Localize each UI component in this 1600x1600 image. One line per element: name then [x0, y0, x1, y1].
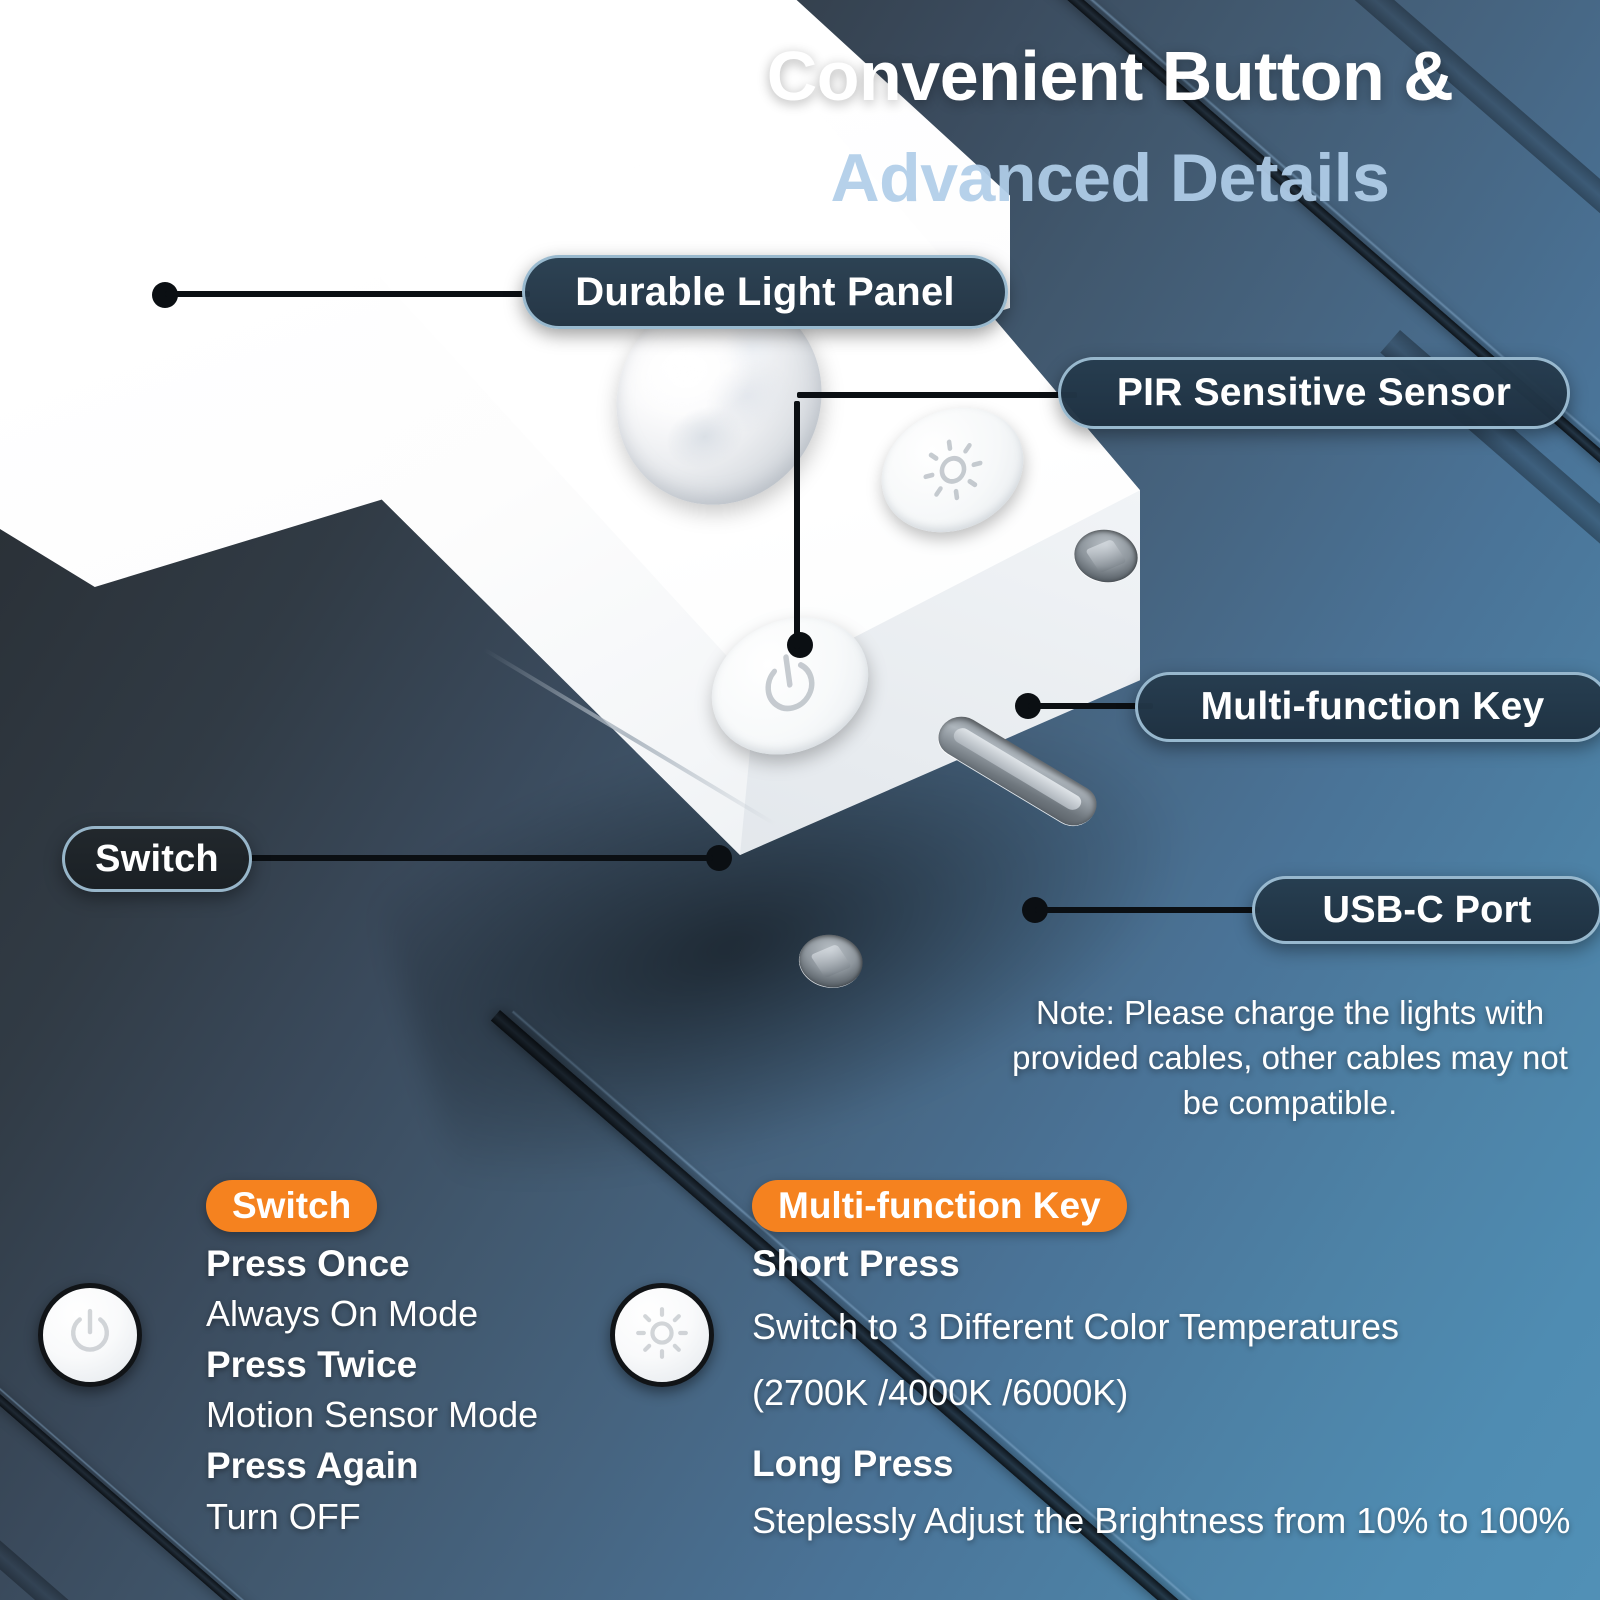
- mfk-row-1-desc: Switch to 3 Different Color Temperatures: [752, 1306, 1399, 1348]
- leader-line-durable-light-panel: [165, 291, 530, 297]
- callout-usb-c-port[interactable]: USB-C Port: [1252, 876, 1600, 944]
- leader-line-pir-sensor-vertical: [794, 401, 800, 649]
- badge-label: Multi-function Key: [778, 1185, 1101, 1227]
- badge-switch: Switch: [206, 1180, 377, 1232]
- page-title-line1: Convenient Button &: [660, 28, 1560, 124]
- callout-pir-sensitive-sensor[interactable]: PIR Sensitive Sensor: [1058, 357, 1570, 429]
- switch-power-button-icon-circle[interactable]: [38, 1283, 142, 1387]
- leader-line-switch: [243, 855, 713, 861]
- callout-label: Multi-function Key: [1201, 685, 1545, 729]
- callout-label: USB-C Port: [1323, 889, 1532, 932]
- switch-row-1-title: Press Once: [206, 1243, 410, 1285]
- charging-note: Note: Please charge the lights with prov…: [1000, 990, 1580, 1125]
- callout-label: PIR Sensitive Sensor: [1117, 371, 1511, 415]
- leader-dot-pir-sensor: [787, 632, 813, 658]
- switch-row-3-title: Press Again: [206, 1445, 419, 1487]
- infographic-canvas: Convenient Button & Advanced Details Dur…: [0, 0, 1600, 1600]
- mfk-row-1-desc2: (2700K /4000K /6000K): [752, 1372, 1128, 1414]
- switch-row-2-desc: Motion Sensor Mode: [206, 1394, 538, 1436]
- power-icon: [62, 1305, 118, 1366]
- callout-label: Durable Light Panel: [575, 270, 954, 315]
- callout-label: Switch: [95, 838, 219, 881]
- badge-label: Switch: [232, 1185, 351, 1227]
- switch-row-3-desc: Turn OFF: [206, 1496, 361, 1538]
- callout-switch[interactable]: Switch: [62, 826, 252, 892]
- callout-durable-light-panel[interactable]: Durable Light Panel: [522, 255, 1008, 329]
- switch-row-2-title: Press Twice: [206, 1344, 417, 1386]
- brightness-icon: [634, 1305, 690, 1366]
- page-title-line2: Advanced Details: [660, 132, 1560, 224]
- callout-multi-function-key[interactable]: Multi-function Key: [1135, 672, 1600, 742]
- leader-line-usb-c-port: [1035, 907, 1260, 913]
- mfk-row-2-title: Long Press: [752, 1443, 954, 1485]
- leader-line-pir-sensor-horizontal: [797, 392, 1077, 398]
- badge-multi-function-key: Multi-function Key: [752, 1180, 1127, 1232]
- multi-function-brightness-icon-circle[interactable]: [610, 1283, 714, 1387]
- mfk-row-2-desc: Steplessly Adjust the Brightness from 10…: [752, 1500, 1570, 1542]
- switch-row-1-desc: Always On Mode: [206, 1293, 478, 1335]
- mfk-row-1-title: Short Press: [752, 1243, 960, 1285]
